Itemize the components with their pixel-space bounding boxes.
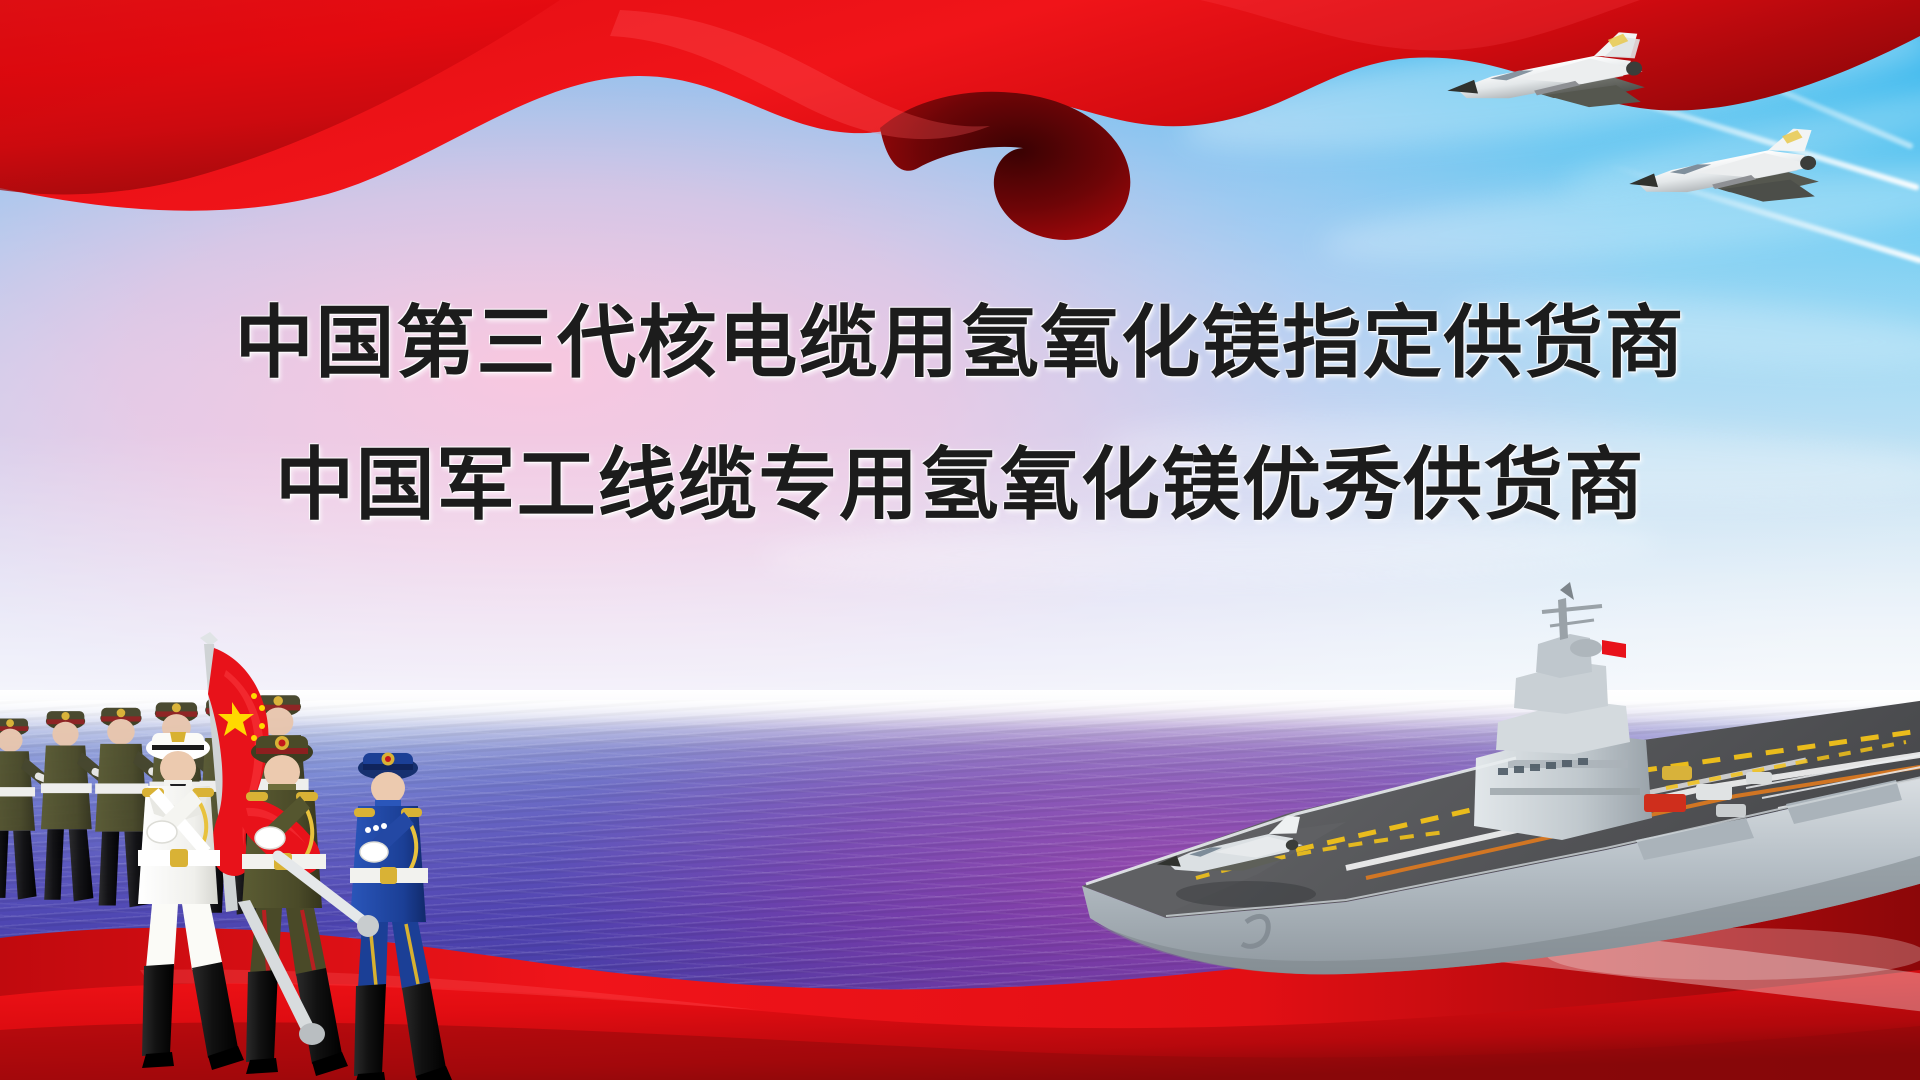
honor-guard (0, 610, 546, 1080)
aircraft-carrier (1046, 582, 1920, 1052)
banner-image: 中国第三代核电缆用氢氧化镁指定供货商 中国军工线缆专用氢氧化镁优秀供货商 (0, 0, 1920, 1080)
